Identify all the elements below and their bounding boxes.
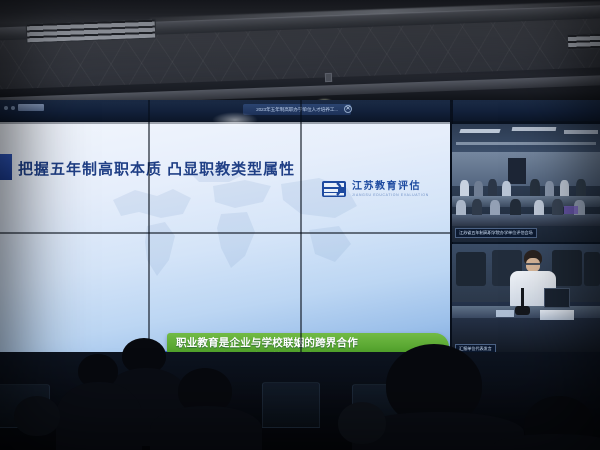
audience-shoulders <box>56 382 142 450</box>
logo-name-cn: 江苏教育评估 <box>352 182 429 192</box>
feed-b-laptop <box>544 288 570 308</box>
organization-logo: 江苏教育评估 JIANGSU EDUCATION EVALUATION <box>322 180 429 199</box>
logo-name-en: JIANGSU EDUCATION EVALUATION <box>352 194 429 197</box>
panel-seam-v2 <box>300 100 302 358</box>
feed-b-microphone-base <box>515 306 530 315</box>
feed-a-person <box>576 179 586 196</box>
je-logo-icon <box>322 180 348 199</box>
feed-a-person <box>510 199 521 215</box>
titlebar-left-controls <box>4 104 44 111</box>
feed-b-nameplate <box>540 310 574 320</box>
feed-a-person <box>456 200 466 215</box>
slide-title: 把握五年制高职本质 凸显职教类型属性 <box>18 158 295 179</box>
feed-b-chair <box>584 252 600 286</box>
feed-b-speaker-face <box>526 258 540 272</box>
feed-a-monitor <box>564 206 578 214</box>
window-title: 2023年五年制高职办学单位人才培养工... <box>243 104 351 115</box>
panel-seam-v1 <box>148 100 150 358</box>
feed-b-chair <box>456 252 486 286</box>
feed-a-desk-row-2b <box>452 214 600 226</box>
audience-head <box>14 396 60 436</box>
title-accent-bar <box>0 154 12 180</box>
close-icon[interactable]: ✕ <box>344 105 352 113</box>
feed-a-light-3 <box>564 130 598 134</box>
feed-a-person <box>552 199 563 215</box>
feed-a-person <box>472 199 482 215</box>
feed-a-person <box>490 200 500 215</box>
audience-silhouettes <box>0 330 600 450</box>
audience-head <box>338 402 386 444</box>
ceiling-sensor <box>325 73 332 82</box>
feed-b-chair <box>552 250 582 286</box>
conference-room-photo: 2023年五年制高职办学单位人才培养工... ✕ 把握五年制高职本质 凸显职教 <box>0 0 600 450</box>
logo-text: 江苏教育评估 JIANGSU EDUCATION EVALUATION <box>352 182 429 197</box>
window-title-text: 2023年五年制高职办学单位人才培养工... <box>256 106 338 113</box>
feed-a-person <box>502 181 511 196</box>
feed-a-person <box>474 181 483 196</box>
feed-a-person <box>545 181 554 196</box>
audience-shoulders <box>150 406 262 450</box>
feed-a-caption-text: 江苏省五年制高职学院办学单位评估会场 <box>459 230 533 236</box>
feed-a-podium <box>508 158 526 184</box>
presentation-slide: 把握五年制高职本质 凸显职教类型属性 江苏教育评估 JIANGSU EDUCAT… <box>0 122 450 358</box>
video-feed-meeting-room[interactable]: 江苏省五年制高职学院办学单位评估会场 <box>452 124 600 242</box>
feed-a-person <box>560 180 569 196</box>
feed-a-person <box>460 180 469 196</box>
feed-a-light-strip <box>456 142 596 145</box>
titlebar-dot-icon-2 <box>11 106 15 110</box>
feed-b-speaker-glasses <box>526 263 540 265</box>
air-vent-right <box>567 32 600 50</box>
titlebar-dot-icon <box>4 106 8 110</box>
titlebar-app-chip[interactable] <box>18 104 44 111</box>
ceiling <box>0 0 600 104</box>
feed-b-papers <box>496 310 514 317</box>
feed-a-person <box>534 200 544 215</box>
feed-a-person <box>488 179 497 196</box>
feed-a-light-1 <box>459 129 500 133</box>
audience-shoulders <box>494 434 600 450</box>
feed-a-person <box>530 179 540 196</box>
feed-a-light-2 <box>512 127 557 131</box>
feed-a-caption: 江苏省五年制高职学院办学单位评估会场 <box>455 228 537 238</box>
